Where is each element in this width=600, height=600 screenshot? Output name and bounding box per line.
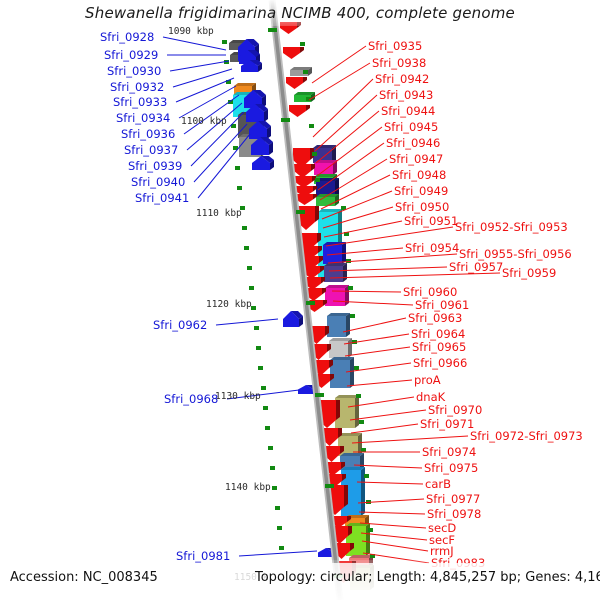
leader-line-right [324,221,402,237]
leader-line-right [344,334,409,344]
leader-line-left [163,37,226,50]
ruler-tick-label: 1130 kbp [215,391,261,402]
leader-line-right [333,301,413,305]
gene-label-left[interactable]: Sfri_0939 [128,161,182,172]
gene-label-right[interactable]: Sfri_0970 [428,405,482,416]
ruler-tick-label: 1100 kbp [181,116,227,127]
leader-line-right [345,347,410,356]
leader-line-left [216,319,278,325]
leader-line-left [170,61,229,71]
gene-label-right[interactable]: Sfri_0954 [405,243,459,254]
leader-line-right [354,465,422,468]
ruler-tick-mark [315,393,324,397]
ruler-tick-label: 1120 kbp [206,299,252,310]
gene-label-right[interactable]: Sfri_0964 [411,329,465,340]
ruler-tick-mark [281,118,290,122]
ruler-tick-mark [325,484,334,488]
leader-line-right [332,291,401,292]
gene-label-right[interactable]: Sfri_0942 [375,74,429,85]
gene-label-right[interactable]: Sfri_0966 [413,358,467,369]
gene-label-right[interactable]: Sfri_0974 [422,447,476,458]
ruler-tick-mark [296,210,305,214]
leader-line-left [239,551,317,556]
gene-label-right[interactable]: Sfri_0935 [368,41,422,52]
page-title: Shewanella frigidimarina NCIMB 400, comp… [0,4,600,22]
gene-label-left[interactable]: Sfri_0940 [131,177,185,188]
leader-line-right [360,523,426,528]
leader-line-right [328,254,457,263]
gene-label-right[interactable]: Sfri_0963 [408,313,462,324]
gene-label-left[interactable]: Sfri_0941 [135,193,189,204]
accession-label: Accession: NC_008345 [10,570,158,585]
gene-label-right[interactable]: Sfri_0952-Sfri_0953 [455,222,568,233]
gene-label-left[interactable]: Sfri_0937 [124,145,178,156]
gene-label-right[interactable]: Sfri_0965 [412,342,466,353]
genome-map-viewport[interactable]: 1090 kbp1100 kbp1110 kbp1120 kbp1130 kbp… [0,0,600,600]
genome-axis-line [272,0,340,600]
leader-line-layer [0,0,600,600]
gene-label-left[interactable]: Sfri_0934 [116,113,170,124]
gene-label-right[interactable]: Sfri_0960 [403,287,457,298]
gene-label-right[interactable]: Sfri_0977 [426,494,480,505]
gene-label-right[interactable]: Sfri_0951 [404,216,458,227]
leader-line-right [346,363,411,372]
gene-label-right[interactable]: carB [425,479,451,490]
ruler-tick-label: 1140 kbp [225,482,271,493]
gene-label-left[interactable]: Sfri_0981 [176,551,230,562]
leader-line-right [358,499,424,503]
leader-line-left [184,95,239,134]
gene-label-left[interactable]: Sfri_0962 [153,320,207,331]
leader-line-right [327,248,403,255]
gene-label-right[interactable]: Sfri_0955-Sfri_0956 [459,249,572,260]
leader-line-right [350,410,426,420]
gene-label-right[interactable]: Sfri_0957 [449,262,503,273]
gene-label-left[interactable]: Sfri_0930 [107,66,161,77]
gene-label-right[interactable]: Sfri_0948 [392,170,446,181]
leader-line-left [194,124,247,182]
ruler-tick-label: 1110 kbp [196,208,242,219]
ruler-tick-mark [306,301,315,305]
leader-line-right [363,553,429,563]
leader-line-right [348,397,414,407]
leader-line-left [198,134,250,198]
leader-line-right [343,318,406,332]
gene-label-left[interactable]: Sfri_0936 [121,129,175,140]
leader-line-left [176,78,234,102]
leader-line-right [359,512,425,514]
gene-label-right[interactable]: Sfri_0978 [427,509,481,520]
leader-line-right [313,79,373,137]
gene-label-right[interactable]: Sfri_0959 [502,268,556,279]
leader-line-right [352,436,468,443]
gene-label-right[interactable]: Sfri_0975 [424,463,478,474]
leader-line-right [329,267,447,271]
gene-label-right[interactable]: Sfri_0961 [415,300,469,311]
leader-line-left [173,69,232,87]
leader-line-right [347,380,412,386]
gene-label-left[interactable]: Sfri_0932 [110,82,164,93]
leader-line-right [309,63,370,100]
leader-line-right [312,46,366,83]
gene-label-right[interactable]: Sfri_0946 [386,138,440,149]
leader-line-right [351,424,418,433]
ruler-tick-label: 1090 kbp [168,26,214,37]
leader-line-right [322,191,392,219]
gene-label-right[interactable]: Sfri_0949 [394,186,448,197]
gene-label-right[interactable]: dnaK [416,392,445,403]
gene-label-right[interactable]: Sfri_0938 [372,58,426,69]
gene-label-right[interactable]: Sfri_0943 [379,90,433,101]
gene-label-left[interactable]: Sfri_0968 [164,394,218,405]
leader-line-right [357,482,423,484]
leader-line-right [361,533,427,540]
gene-label-right[interactable]: Sfri_0972-Sfri_0973 [470,431,583,442]
ruler-tick-mark [268,28,277,32]
leader-line-left [179,86,236,118]
gene-label-right[interactable]: Sfri_0945 [384,122,438,133]
leader-line-right [315,95,377,151]
gene-label-left[interactable]: Sfri_0929 [104,50,158,61]
leader-line-right [362,541,428,551]
gene-label-right[interactable]: proA [414,375,441,386]
gene-label-right[interactable]: Sfri_0950 [395,202,449,213]
gene-label-right[interactable]: Sfri_0944 [381,106,435,117]
gene-label-right[interactable]: Sfri_0971 [420,419,474,430]
genome-summary-label: Topology: circular; Length: 4,845,257 bp… [255,570,600,585]
gene-label-left[interactable]: Sfri_0933 [113,97,167,108]
gene-label-right[interactable]: Sfri_0947 [389,154,443,165]
gene-label-left[interactable]: Sfri_0928 [100,32,154,43]
